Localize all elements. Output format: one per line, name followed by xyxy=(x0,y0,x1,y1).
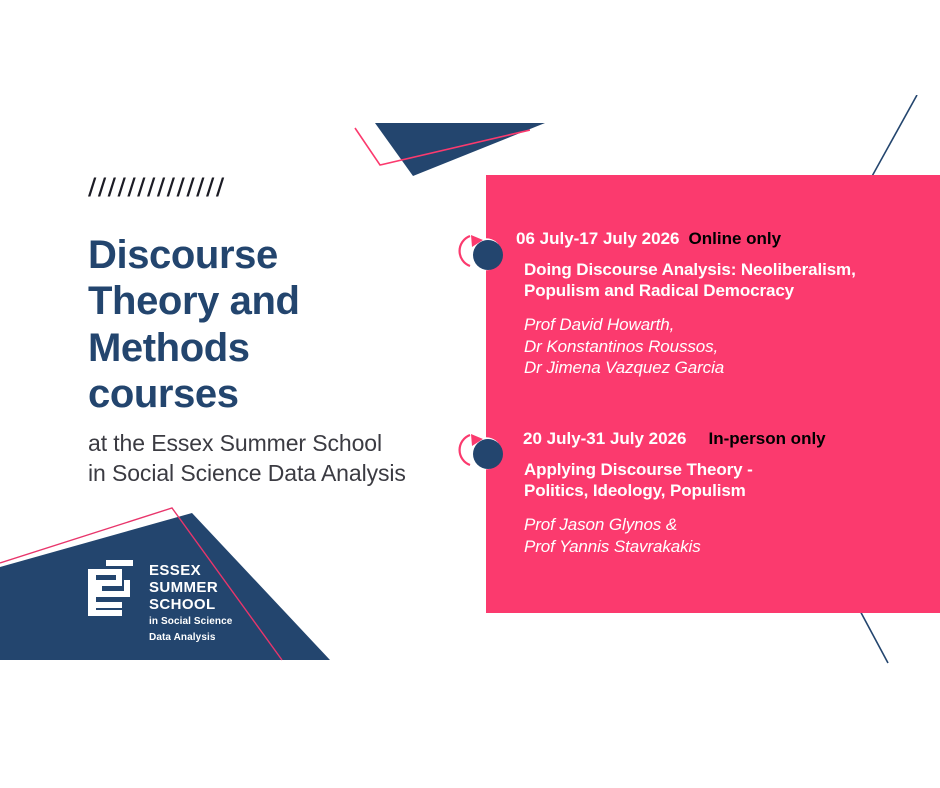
logo-line-essex: ESSEX xyxy=(149,563,232,580)
logo-line-school: SCHOOL xyxy=(149,597,232,614)
slash-ornament: ////////////// xyxy=(88,176,468,202)
navy-diagonal-line-bottom-right xyxy=(850,605,940,675)
essex-summer-school-logo: ESSEX SUMMER SCHOOL in Social Science Da… xyxy=(88,560,232,644)
logo-line-summer: SUMMER xyxy=(149,580,232,597)
course-staff: Prof Jason Glynos & Prof Yannis Stavraka… xyxy=(524,514,926,557)
courses-panel: 06 July-17 July 2026 Online only Doing D… xyxy=(486,175,940,613)
logo-sub-line-1: in Social Science xyxy=(149,616,232,628)
left-content-column: ////////////// Discourse Theory and Meth… xyxy=(88,176,468,489)
course-entry: 20 July-31 July 2026 In-person only Appl… xyxy=(516,430,926,557)
course-header: 20 July-31 July 2026 In-person only xyxy=(516,430,926,449)
course-title: Doing Discourse Analysis: Neoliberalism,… xyxy=(524,259,926,303)
course-mode-badge: Online only xyxy=(689,230,782,249)
course-mode-badge: In-person only xyxy=(709,430,826,449)
rotating-arrow-bullet-icon xyxy=(457,225,515,283)
navy-triangle-decoration xyxy=(375,118,545,178)
page-subtitle: at the Essex Summer School in Social Sci… xyxy=(88,428,468,490)
course-dates: 20 July-31 July 2026 xyxy=(523,430,687,449)
pink-angle-line-decoration xyxy=(345,120,530,180)
page-title: Discourse Theory and Methods courses xyxy=(88,232,468,418)
logo-sub-line-2: Data Analysis xyxy=(149,632,232,644)
logo-wordmark: ESSEX SUMMER SCHOOL in Social Science Da… xyxy=(149,560,232,644)
course-entry: 06 July-17 July 2026 Online only Doing D… xyxy=(516,230,926,379)
rotating-arrow-bullet-icon xyxy=(457,424,515,482)
course-title: Applying Discourse Theory - Politics, Id… xyxy=(524,459,926,503)
course-staff: Prof David Howarth, Dr Konstantinos Rous… xyxy=(524,314,926,379)
essex-logo-mark-icon xyxy=(88,560,136,616)
poster-canvas: ////////////// Discourse Theory and Meth… xyxy=(0,0,940,788)
course-header: 06 July-17 July 2026 Online only xyxy=(516,230,926,249)
course-dates: 06 July-17 July 2026 xyxy=(516,230,680,249)
